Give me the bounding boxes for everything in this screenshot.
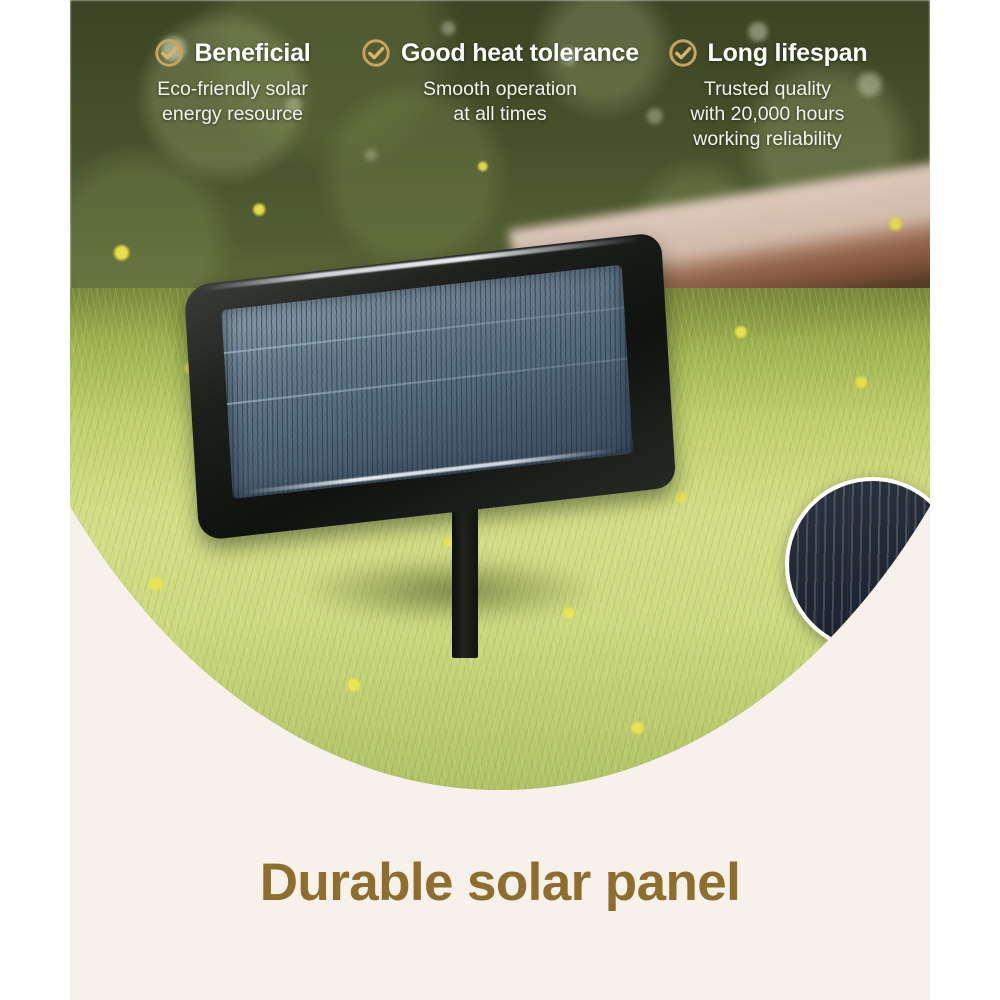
feature-description-line: Trusted quality (639, 77, 896, 102)
feature-description-line: Eco-friendly solar (104, 77, 361, 102)
feature-description: Eco-friendly solar energy resource (104, 77, 361, 127)
feature-title: Good heat tolerance (401, 39, 639, 68)
feature-list: Beneficial Eco-friendly solar energy res… (70, 38, 930, 152)
solar-panel-head (184, 232, 677, 541)
panel-mounting-stake (452, 493, 478, 658)
product-marketing-image: Beneficial Eco-friendly solar energy res… (0, 0, 1000, 1000)
panel-ground-shadow (300, 555, 600, 625)
solar-panel-product (180, 255, 740, 675)
feature-item-beneficial: Beneficial Eco-friendly solar energy res… (104, 38, 361, 152)
cell-seam (227, 357, 628, 405)
feature-description: Smooth operation at all times (361, 77, 639, 127)
feature-item-long-lifespan: Long lifespan Trusted quality with 20,00… (639, 38, 896, 152)
feature-heading: Long lifespan (639, 38, 896, 68)
cell-seam (224, 306, 625, 354)
feature-item-heat-tolerance: Good heat tolerance Smooth operation at … (361, 38, 639, 152)
feature-title: Long lifespan (708, 39, 868, 68)
check-circle-icon (154, 38, 184, 68)
check-circle-icon (668, 38, 698, 68)
page-headline: Durable solar panel (70, 852, 930, 913)
feature-description-line: at all times (361, 102, 639, 127)
feature-description-line: energy resource (104, 102, 361, 127)
check-circle-icon (361, 38, 391, 68)
feature-description-line: Smooth operation (361, 77, 639, 102)
feature-heading: Beneficial (104, 38, 361, 68)
feature-description: Trusted quality with 20,000 hours workin… (639, 77, 896, 152)
feature-description-line: working reliability (639, 127, 896, 152)
feature-description-line: with 20,000 hours (639, 102, 896, 127)
feature-title: Beneficial (194, 39, 310, 68)
feature-heading: Good heat tolerance (361, 38, 639, 68)
